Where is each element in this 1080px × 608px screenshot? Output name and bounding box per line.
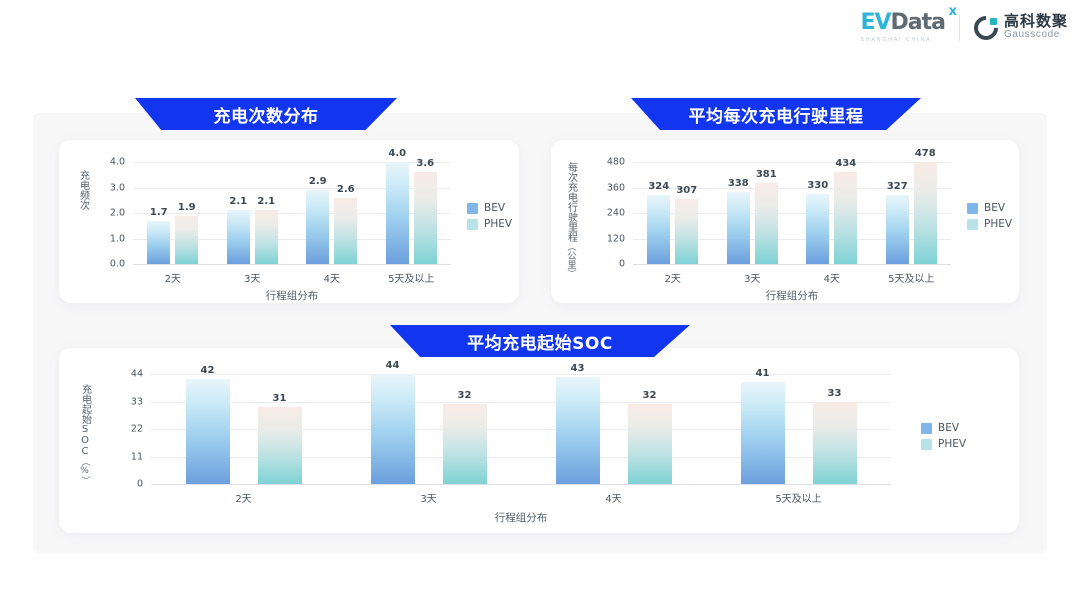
y-axis-tick: 3.0 (95, 182, 125, 193)
bar-group: 4.03.6 (386, 162, 437, 264)
legend-swatch-icon (921, 439, 932, 450)
x-axis-tick: 4天 (324, 270, 340, 285)
legend-item-bev[interactable]: BEV (467, 202, 512, 214)
evdata-superscript-x: x (949, 5, 956, 18)
bar-value-label: 434 (835, 158, 856, 169)
x-axis-line (133, 264, 451, 265)
evdata-data-text: Data (891, 10, 945, 35)
gausscode-logo: 高科数聚 Gausscode (974, 14, 1068, 40)
y-axis-label: 每次充电行驶里程（公里） (565, 162, 577, 278)
bar-value-label: 1.9 (178, 202, 196, 213)
y-axis-tick: 120 (595, 233, 625, 244)
bar-group: 2.12.1 (227, 162, 278, 264)
x-axis-tick: 3天 (420, 490, 436, 505)
bar-value-label: 31 (273, 393, 287, 404)
x-axis-line (151, 484, 891, 485)
x-axis-tick: 2天 (665, 270, 681, 285)
legend-label: PHEV (984, 218, 1012, 230)
bar-value-label: 2.9 (309, 176, 327, 187)
gausscode-cn-name: 高科数聚 (1004, 14, 1068, 30)
chart-legend: BEVPHEV (467, 202, 512, 230)
bar-group: 4133 (741, 374, 857, 484)
legend-label: BEV (484, 202, 505, 214)
bar-value-label: 33 (828, 388, 842, 399)
chart-legend: BEVPHEV (967, 202, 1012, 230)
chart-title-banner-avg-start-soc: 平均充电起始SOC (390, 325, 690, 357)
legend-label: PHEV (484, 218, 512, 230)
x-axis-tick: 5天及以上 (388, 270, 434, 285)
bar-bev[interactable]: 4.0 (386, 162, 409, 264)
bar-bev[interactable]: 2.9 (306, 190, 329, 264)
bar-group: 327478 (886, 162, 937, 264)
y-axis-tick: 0.0 (95, 259, 125, 270)
x-axis-tick: 3天 (744, 270, 760, 285)
bar-group: 4332 (556, 374, 672, 484)
bar-phev[interactable]: 381 (755, 183, 778, 264)
bar-value-label: 41 (756, 368, 770, 379)
x-axis-tick: 5天及以上 (888, 270, 934, 285)
bar-value-label: 307 (676, 185, 697, 196)
bar-phev[interactable]: 31 (258, 407, 302, 485)
chart-avg-range-per-charge: 每次充电行驶里程（公里）01202403604803243072天3383813… (551, 140, 1019, 303)
bar-group: 1.71.9 (147, 162, 198, 264)
legend-swatch-icon (467, 203, 478, 214)
y-axis-tick: 11 (113, 451, 143, 462)
x-axis-label: 行程组分布 (495, 510, 548, 525)
legend-label: PHEV (938, 438, 966, 450)
legend-swatch-icon (967, 203, 978, 214)
bar-phev[interactable]: 33 (813, 402, 857, 485)
bar-phev[interactable]: 2.6 (334, 198, 357, 264)
y-axis-tick: 4.0 (95, 157, 125, 168)
bar-bev[interactable]: 1.7 (147, 221, 170, 264)
chart-title-text: 平均充电起始SOC (467, 329, 613, 354)
x-axis-tick: 4天 (605, 490, 621, 505)
y-axis-tick: 360 (595, 182, 625, 193)
bar-value-label: 32 (643, 390, 657, 401)
bar-value-label: 3.6 (416, 158, 434, 169)
chart-title-banner-avg-range-per-charge: 平均每次充电行驶里程 (631, 98, 921, 130)
x-axis-tick: 2天 (165, 270, 181, 285)
gausscode-mark-icon (974, 16, 998, 40)
bar-bev[interactable]: 338 (727, 192, 750, 264)
bar-value-label: 4.0 (388, 148, 406, 159)
bar-value-label: 2.6 (337, 184, 355, 195)
legend-swatch-icon (967, 219, 978, 230)
y-axis-tick: 2.0 (95, 208, 125, 219)
x-axis-tick: 2天 (235, 490, 251, 505)
bar-group: 330434 (806, 162, 857, 264)
bar-value-label: 478 (915, 148, 936, 159)
y-axis-label: 充电起始SOC（%） (79, 384, 91, 485)
bar-bev[interactable]: 327 (886, 195, 909, 264)
x-axis-tick: 5天及以上 (775, 490, 821, 505)
legend-item-bev[interactable]: BEV (921, 422, 966, 434)
bar-value-label: 42 (201, 365, 215, 376)
bar-phev[interactable]: 1.9 (175, 216, 198, 264)
chart-title-banner-charging-frequency: 充电次数分布 (135, 98, 397, 130)
x-axis-label: 行程组分布 (266, 288, 319, 303)
bar-group: 4432 (371, 374, 487, 484)
chart-title-text: 充电次数分布 (214, 102, 319, 127)
chart-charging-frequency: 充电频次0.01.02.03.04.01.71.92天2.12.13天2.92.… (59, 140, 519, 303)
page-header: EVDatax SHANGHAI CHINA 高科数聚 Gausscode (0, 0, 1080, 64)
x-axis-label: 行程组分布 (766, 288, 819, 303)
bar-value-label: 330 (807, 180, 828, 191)
bar-phev[interactable]: 32 (628, 404, 672, 484)
logo-divider (959, 15, 960, 41)
y-axis-label: 充电频次 (77, 170, 89, 210)
bar-bev[interactable]: 330 (806, 194, 829, 264)
bar-value-label: 338 (728, 178, 749, 189)
legend-item-phev[interactable]: PHEV (967, 218, 1012, 230)
bar-group: 324307 (647, 162, 698, 264)
bar-bev[interactable]: 41 (741, 382, 785, 485)
legend-swatch-icon (921, 423, 932, 434)
chart-title-text: 平均每次充电行驶里程 (689, 102, 864, 127)
x-axis-line (633, 264, 951, 265)
y-axis-tick: 0 (595, 259, 625, 270)
y-axis-tick: 1.0 (95, 233, 125, 244)
legend-swatch-icon (467, 219, 478, 230)
bar-value-label: 324 (648, 181, 669, 192)
y-axis-tick: 33 (113, 396, 143, 407)
bar-value-label: 1.7 (150, 207, 168, 218)
bar-value-label: 381 (756, 169, 777, 180)
chart-legend: BEVPHEV (921, 422, 966, 450)
x-axis-tick: 3天 (244, 270, 260, 285)
evdata-wordmark: EVDatax (860, 12, 945, 34)
y-axis-tick: 44 (113, 369, 143, 380)
bar-group: 2.92.6 (306, 162, 357, 264)
bar-value-label: 2.1 (257, 196, 275, 207)
bar-bev[interactable]: 43 (556, 377, 600, 485)
bar-bev[interactable]: 2.1 (227, 210, 250, 264)
bar-value-label: 32 (458, 390, 472, 401)
legend-label: BEV (984, 202, 1005, 214)
bar-phev[interactable]: 478 (914, 162, 937, 264)
bar-phev[interactable]: 32 (443, 404, 487, 484)
legend-item-bev[interactable]: BEV (967, 202, 1012, 214)
evdata-ev-text: EV (860, 10, 890, 35)
y-axis-tick: 22 (113, 424, 143, 435)
bar-phev[interactable]: 2.1 (255, 210, 278, 264)
bar-value-label: 2.1 (229, 196, 247, 207)
y-axis-tick: 240 (595, 208, 625, 219)
bar-bev[interactable]: 42 (186, 379, 230, 484)
bar-value-label: 44 (386, 360, 400, 371)
bar-bev[interactable]: 324 (647, 195, 670, 264)
logo-group: EVDatax SHANGHAI CHINA 高科数聚 Gausscode (860, 12, 1068, 43)
y-axis-tick: 0 (113, 479, 143, 490)
legend-item-phev[interactable]: PHEV (467, 218, 512, 230)
evdata-logo: EVDatax SHANGHAI CHINA (860, 12, 945, 43)
bar-value-label: 43 (571, 363, 585, 374)
bar-bev[interactable]: 44 (371, 374, 415, 484)
y-axis-tick: 480 (595, 157, 625, 168)
x-axis-tick: 4天 (824, 270, 840, 285)
bar-group: 4231 (186, 374, 302, 484)
legend-label: BEV (938, 422, 959, 434)
bar-phev[interactable]: 307 (675, 199, 698, 264)
legend-item-phev[interactable]: PHEV (921, 438, 966, 450)
evdata-tagline: SHANGHAI CHINA (860, 37, 931, 43)
bar-phev[interactable]: 3.6 (414, 172, 437, 264)
gausscode-en-name: Gausscode (1004, 30, 1068, 41)
bar-group: 338381 (727, 162, 778, 264)
bar-phev[interactable]: 434 (834, 172, 857, 264)
bar-value-label: 327 (887, 181, 908, 192)
chart-avg-start-soc: 充电起始SOC（%）01122334442312天44323天43324天413… (59, 348, 1019, 533)
